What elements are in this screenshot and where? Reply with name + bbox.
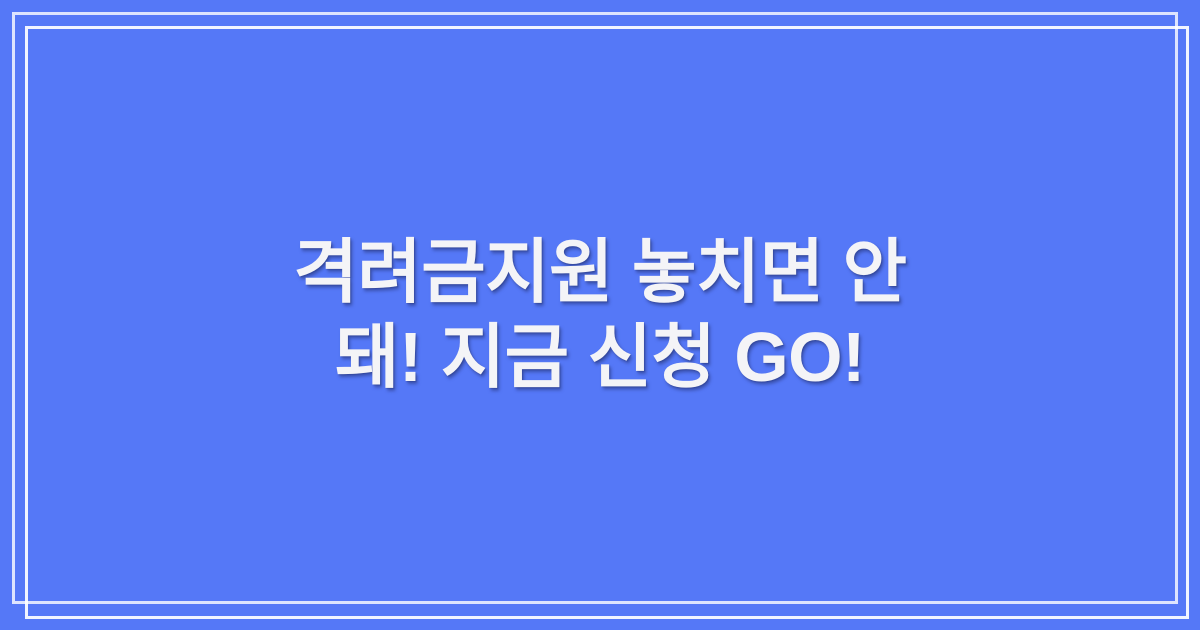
banner-content: 격려금지원 놓치면 안 돼! 지금 신청 GO! — [0, 0, 1200, 630]
promo-banner: 격려금지원 놓치면 안 돼! 지금 신청 GO! — [0, 0, 1200, 630]
banner-headline: 격려금지원 놓치면 안 돼! 지금 신청 GO! — [294, 230, 907, 401]
headline-line-1: 격려금지원 놓치면 안 — [294, 230, 907, 315]
headline-line-2: 돼! 지금 신청 GO! — [294, 315, 907, 400]
